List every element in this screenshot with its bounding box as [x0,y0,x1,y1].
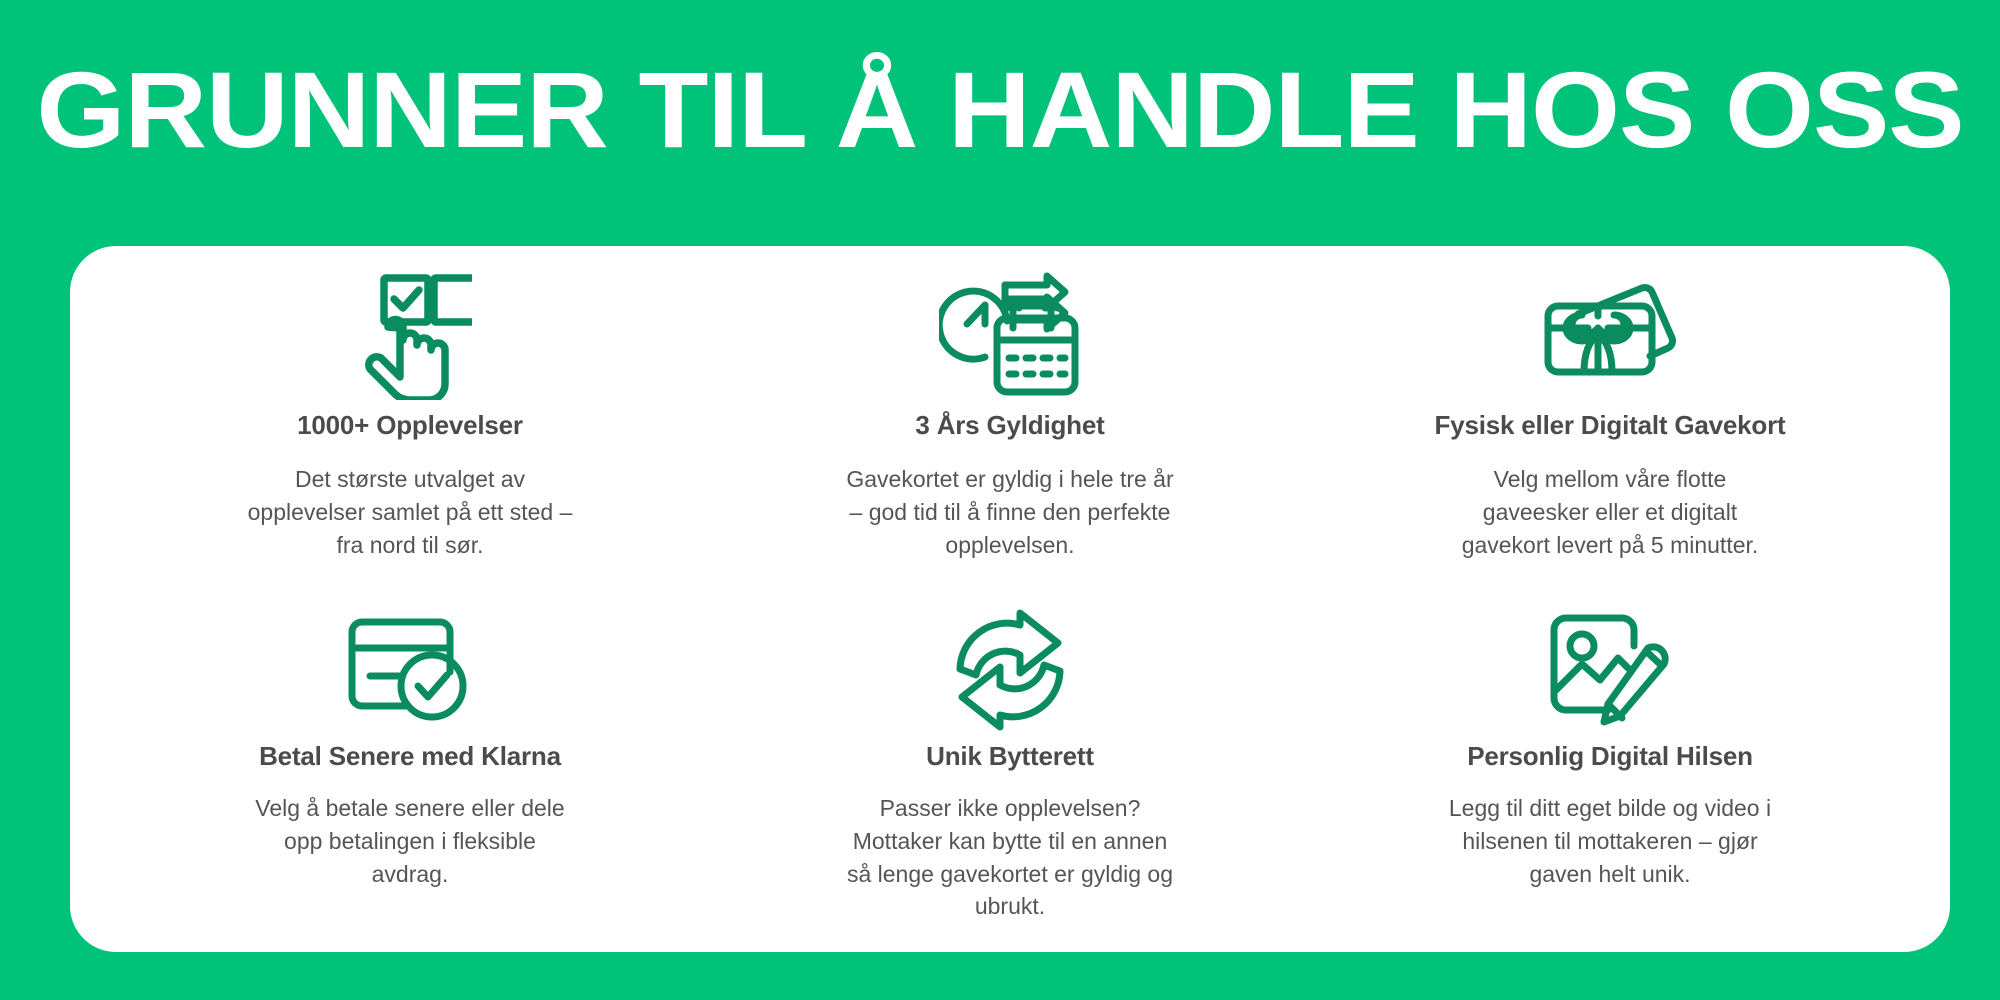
feature-title: 1000+ Opplevelser [297,410,523,441]
features-card: 1000+ Opplevelser Det største utvalget a… [70,246,1950,952]
credit-card-check-icon [346,605,474,735]
feature-title: Unik Bytterett [926,741,1094,772]
feature-description: Velg mellom våre flotte gaveesker eller … [1445,463,1775,561]
feature-item-bytterett: Unik Bytterett Passer ikke opplevelsen? … [710,605,1310,942]
feature-item-gavekort: Fysisk eller Digitalt Gavekort Velg mell… [1310,268,1910,605]
page-title: GRUNNER TIL Å HANDLE HOS OSS [0,56,2000,164]
gift-card-icon [1542,268,1678,404]
photo-pencil-icon [1548,605,1672,735]
feature-item-hilsen: Personlig Digital Hilsen Legg til ditt e… [1310,605,1910,942]
feature-description: Velg å betale senere eller dele opp beta… [245,792,575,890]
promo-banner: GRUNNER TIL Å HANDLE HOS OSS 1000+ Opple… [0,0,2000,1000]
features-grid: 1000+ Opplevelser Det største utvalget a… [70,246,1950,952]
feature-item-gyldighet: 3 Års Gyldighet Gavekortet er gyldig i h… [710,268,1310,605]
feature-description: Det største utvalget av opplevelser saml… [245,463,575,561]
feature-title: Betal Senere med Klarna [259,741,561,772]
feature-description: Passer ikke opplevelsen? Mottaker kan by… [845,792,1175,923]
cursor-checkbox-icon [348,268,472,404]
feature-title: Personlig Digital Hilsen [1467,741,1753,772]
feature-description: Legg til ditt eget bilde og video i hils… [1445,792,1775,890]
clock-calendar-arrow-icon [939,268,1081,404]
exchange-arrows-icon [950,605,1070,735]
feature-description: Gavekortet er gyldig i hele tre år – god… [845,463,1175,561]
feature-item-opplevelser: 1000+ Opplevelser Det største utvalget a… [110,268,710,605]
feature-title: 3 Års Gyldighet [915,410,1104,441]
feature-title: Fysisk eller Digitalt Gavekort [1435,410,1786,441]
feature-item-klarna: Betal Senere med Klarna Velg å betale se… [110,605,710,942]
